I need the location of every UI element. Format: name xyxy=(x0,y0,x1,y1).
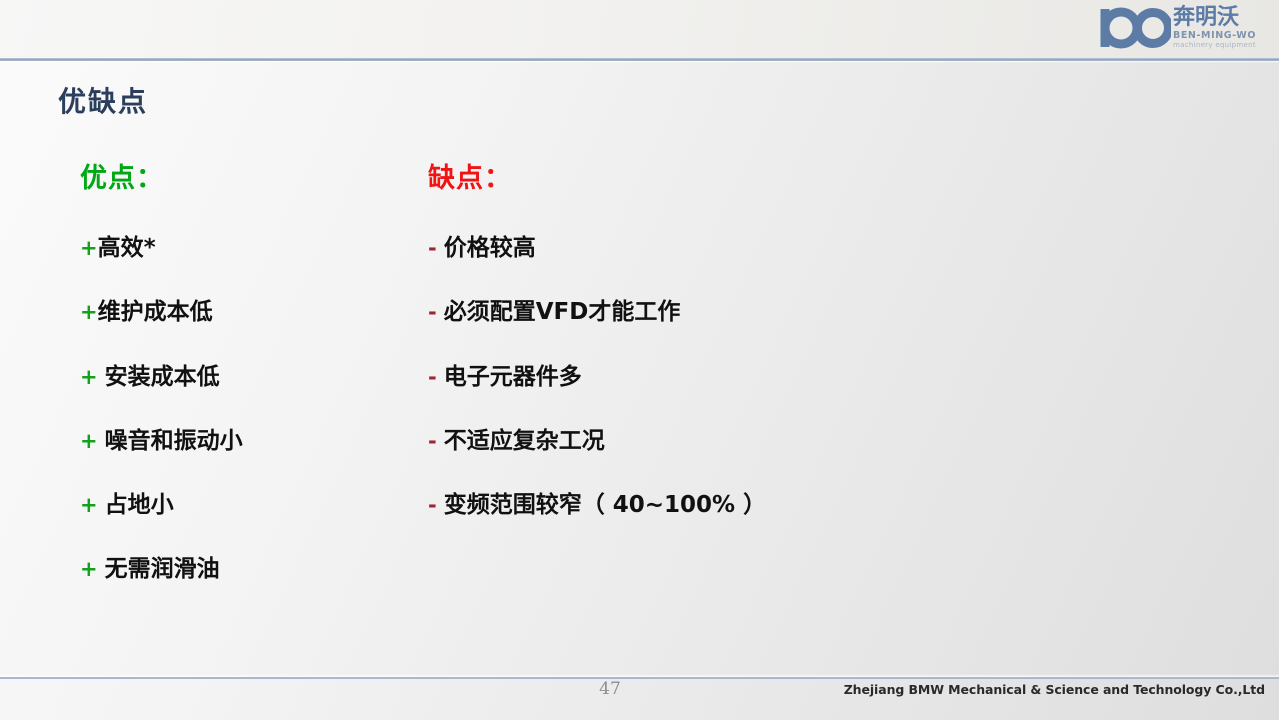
header-divider-highlight xyxy=(0,61,1279,63)
list-item: + 高效* xyxy=(80,236,420,261)
bo-monogram-icon xyxy=(1099,6,1171,50)
list-item-label: 电子元器件多 xyxy=(444,365,582,390)
minus-marker-icon: - xyxy=(428,237,437,260)
header-band xyxy=(0,0,1279,58)
list-item-label: 价格较高 xyxy=(444,236,536,261)
list-item: - 价格较高 xyxy=(428,236,1048,261)
list-item: + 安装成本低 xyxy=(80,365,420,390)
plus-marker-icon: + xyxy=(80,430,98,453)
list-item-label: 占地小 xyxy=(105,493,174,518)
list-item-label: 变频范围较窄（ 40~100% ） xyxy=(444,493,766,518)
list-item-label: 无需润滑油 xyxy=(105,557,220,582)
list-item: - 变频范围较窄（ 40~100% ） xyxy=(428,493,1048,518)
cons-list: - 价格较高 - 必须配置VFD才能工作 - 电子元器件多 - 不适应复杂工况 … xyxy=(428,236,1048,518)
list-item: - 电子元器件多 xyxy=(428,365,1048,390)
cons-heading: 缺点： xyxy=(428,165,1048,192)
plus-marker-icon: + xyxy=(80,494,98,517)
footer-company-name: Zhejiang BMW Mechanical & Science and Te… xyxy=(844,682,1265,697)
minus-marker-icon: - xyxy=(428,494,437,517)
logo-tagline: machinery equipment xyxy=(1173,42,1256,49)
plus-marker-icon: + xyxy=(80,237,98,260)
slide-canvas: 奔明沃 BEN-MING-WO machinery equipment 优缺点 … xyxy=(0,0,1279,720)
pros-column: 优点： + 高效* + 维护成本低 + 安装成本低 + 噪音和振动小 + 占地小 xyxy=(80,165,420,622)
list-item-label: 不适应复杂工况 xyxy=(444,429,605,454)
list-item: - 不适应复杂工况 xyxy=(428,429,1048,454)
pros-heading: 优点： xyxy=(80,165,420,192)
pros-list: + 高效* + 维护成本低 + 安装成本低 + 噪音和振动小 + 占地小 + 无… xyxy=(80,236,420,583)
list-item-label: 噪音和振动小 xyxy=(105,429,243,454)
minus-marker-icon: - xyxy=(428,301,437,324)
logo-name-en: BEN-MING-WO xyxy=(1173,31,1256,41)
list-item: + 维护成本低 xyxy=(80,300,420,325)
company-logo: 奔明沃 BEN-MING-WO machinery equipment xyxy=(1099,2,1271,54)
list-item-label: 必须配置VFD才能工作 xyxy=(444,300,681,325)
list-item: + 占地小 xyxy=(80,493,420,518)
list-item: + 噪音和振动小 xyxy=(80,429,420,454)
logo-wordmark: 奔明沃 BEN-MING-WO machinery equipment xyxy=(1173,7,1256,50)
minus-marker-icon: - xyxy=(428,366,437,389)
plus-marker-icon: + xyxy=(80,366,98,389)
logo-name-cn: 奔明沃 xyxy=(1173,7,1256,29)
list-item: + 无需润滑油 xyxy=(80,557,420,582)
plus-marker-icon: + xyxy=(80,558,98,581)
list-item: - 必须配置VFD才能工作 xyxy=(428,300,1048,325)
cons-column: 缺点： - 价格较高 - 必须配置VFD才能工作 - 电子元器件多 - 不适应复… xyxy=(428,165,1048,557)
minus-marker-icon: - xyxy=(428,430,437,453)
plus-marker-icon: + xyxy=(80,301,98,324)
page-title: 优缺点 xyxy=(58,80,148,120)
list-item-label: 高效* xyxy=(98,236,156,261)
list-item-label: 安装成本低 xyxy=(105,365,220,390)
list-item-label: 维护成本低 xyxy=(98,300,213,325)
